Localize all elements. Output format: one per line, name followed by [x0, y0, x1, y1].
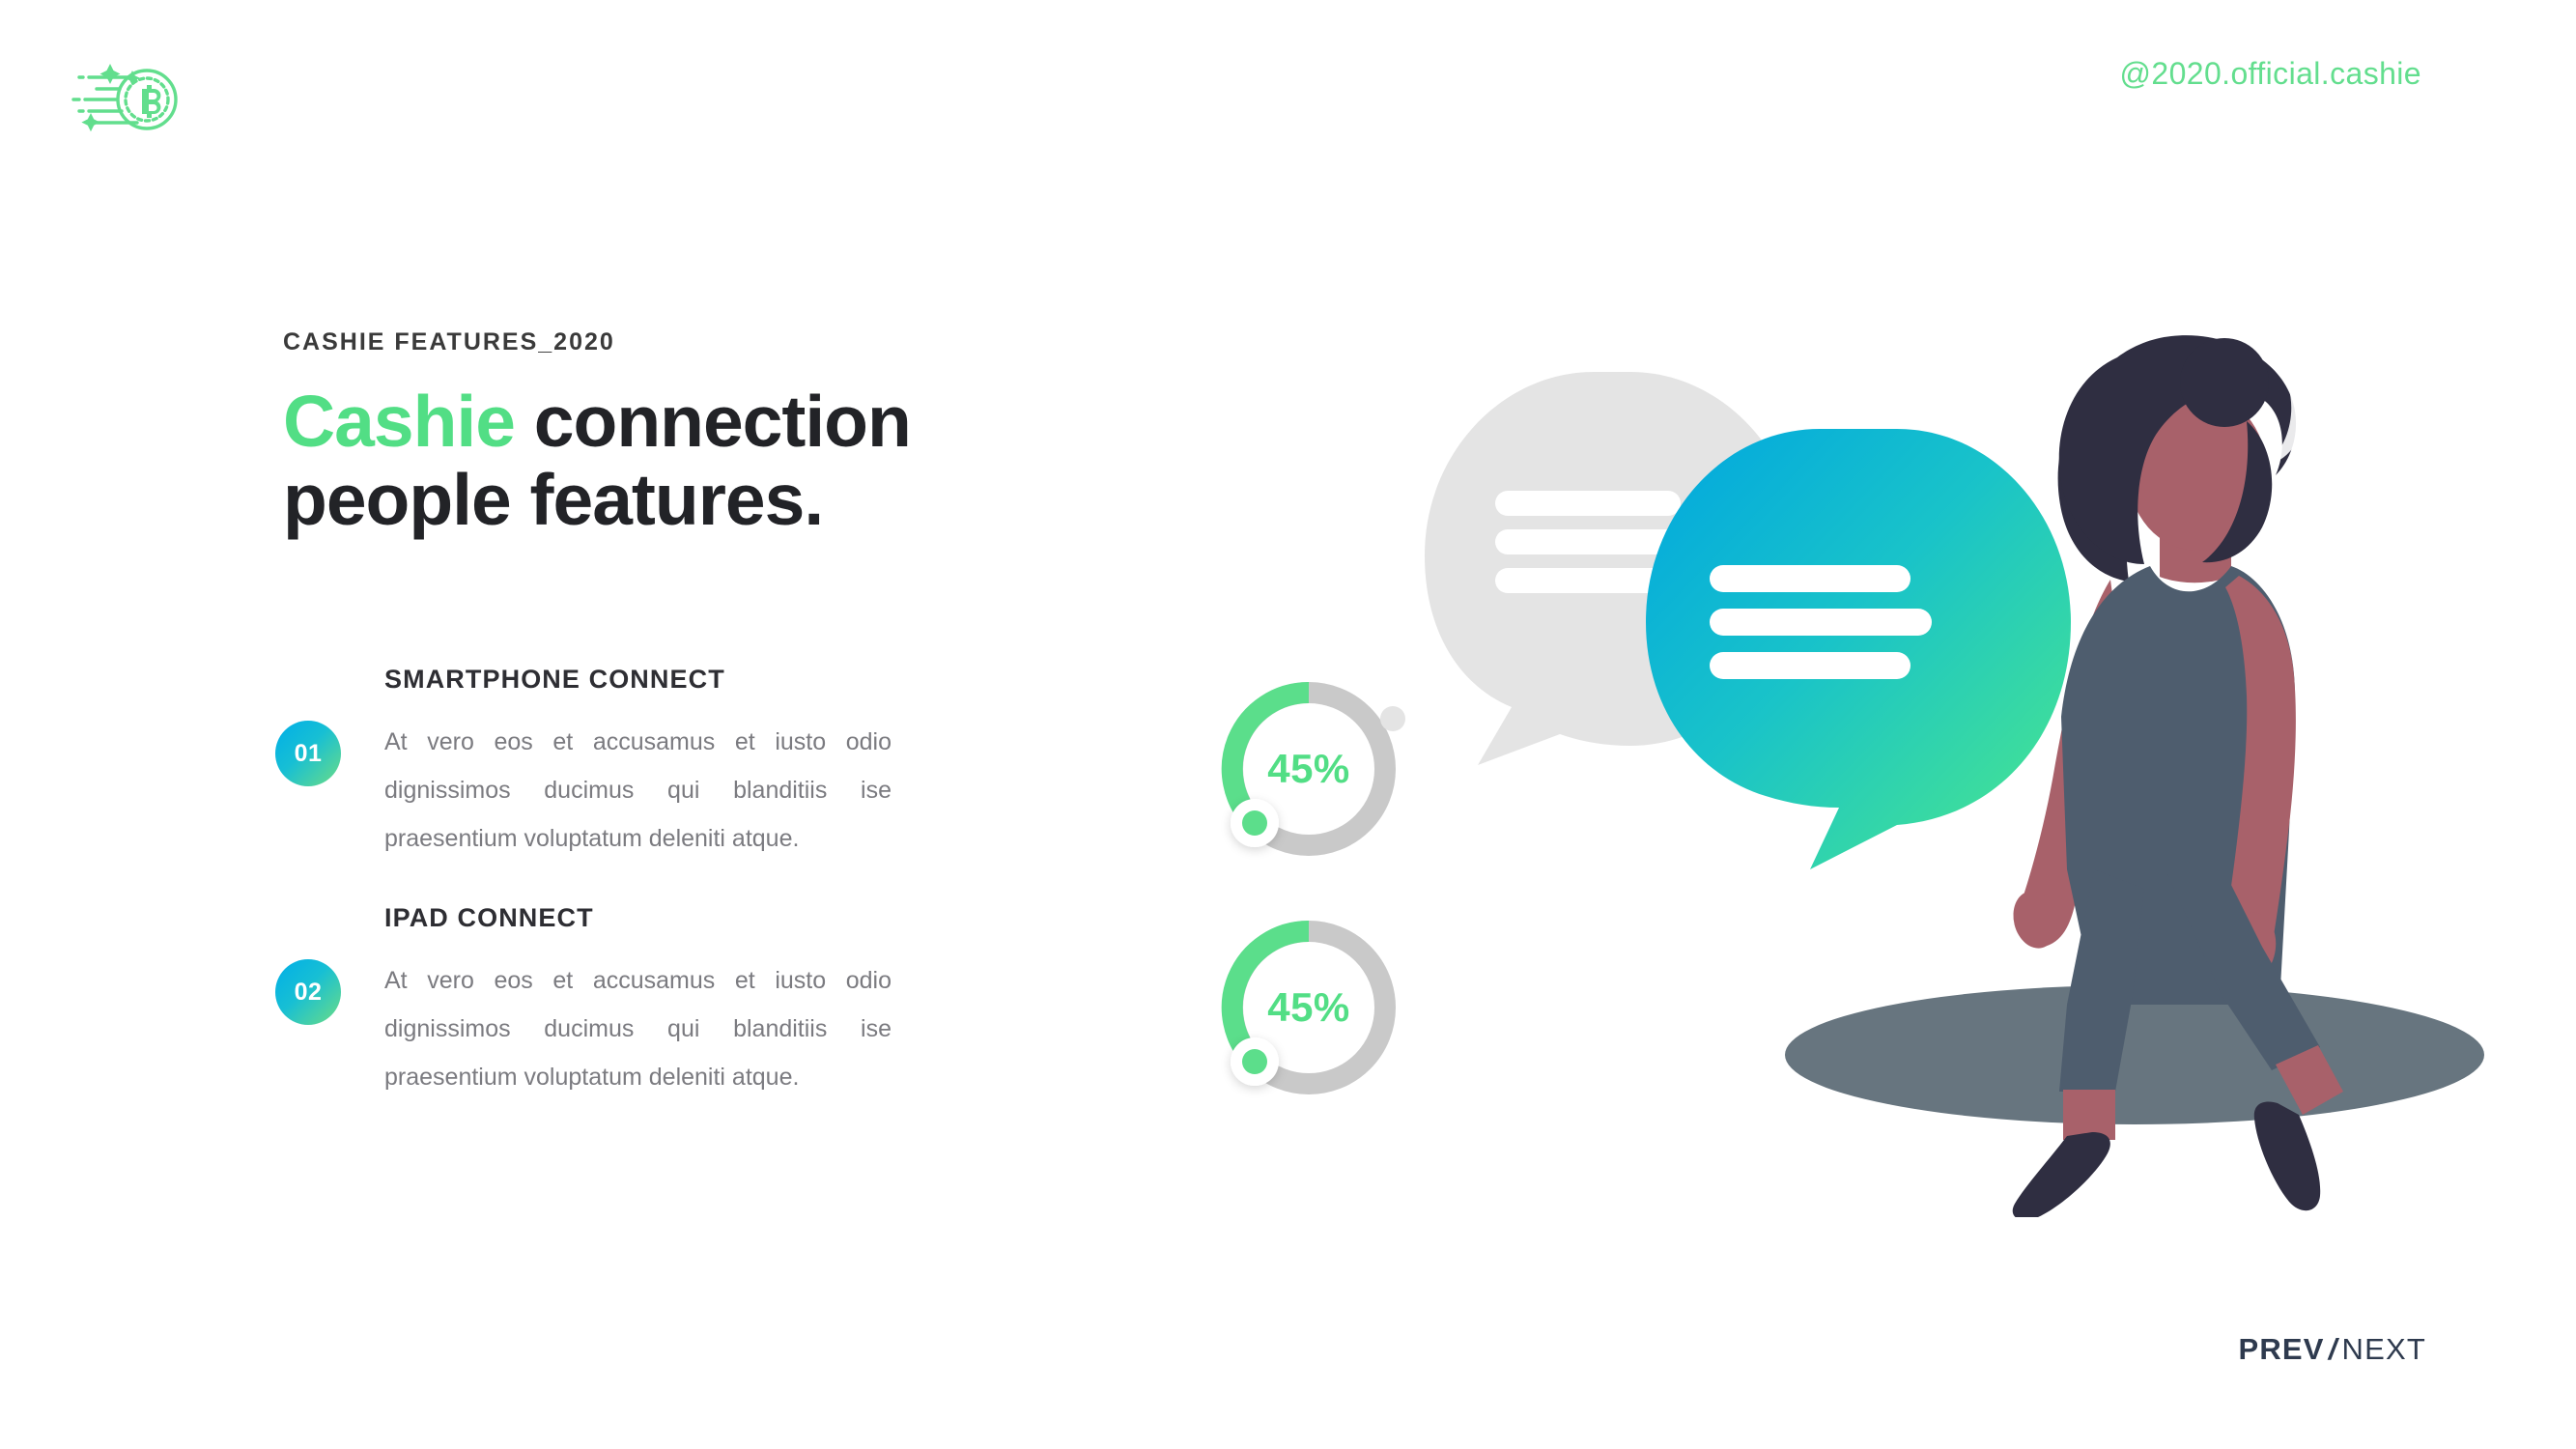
- chat-bubble-gradient: [1646, 429, 2071, 869]
- features-list: 01 SMARTPHONE CONNECT At vero eos et acc…: [270, 665, 1236, 1142]
- eyebrow-label: CASHIE FEATURES_2020: [283, 328, 1152, 356]
- feature-title: SMARTPHONE CONNECT: [384, 665, 892, 695]
- hair-bun: [2180, 338, 2269, 427]
- decor-dot-icon: [1380, 706, 1405, 731]
- illustration-svg: [1333, 328, 2521, 1217]
- headline-accent: Cashie: [283, 381, 515, 462]
- feature-body: IPAD CONNECT At vero eos et accusamus et…: [384, 903, 892, 1101]
- feature-description: At vero eos et accusamus et iusto odio d…: [384, 956, 892, 1101]
- woman-with-chat-bubbles-illustration: [1333, 328, 2521, 1217]
- page-title: Cashie connection people features.: [283, 383, 1152, 539]
- feature-number-badge: 02: [275, 959, 341, 1025]
- slide-navigation: PREV/NEXT: [2238, 1332, 2426, 1367]
- headline-block: CASHIE FEATURES_2020 Cashie connection p…: [283, 328, 1152, 539]
- slide-root: @2020.official.cashie CASHIE FEATURES_20…: [0, 0, 2576, 1449]
- feature-item-01: 01 SMARTPHONE CONNECT At vero eos et acc…: [270, 665, 1236, 863]
- headline-rest: connection: [515, 381, 911, 462]
- brand-logo[interactable]: [56, 43, 220, 158]
- next-button[interactable]: NEXT: [2342, 1332, 2426, 1366]
- nav-separator: /: [2325, 1332, 2342, 1366]
- chat-bubble-gradient-lines: [1710, 565, 1932, 679]
- floor-shadow-ellipse: [1785, 985, 2484, 1124]
- shoe-left: [2013, 1132, 2110, 1217]
- prev-button[interactable]: PREV: [2238, 1332, 2324, 1366]
- shin-left: [2063, 1090, 2115, 1140]
- bitcoin-speed-coin-icon: [56, 43, 220, 158]
- social-handle[interactable]: @2020.official.cashie: [2120, 56, 2421, 92]
- feature-body: SMARTPHONE CONNECT At vero eos et accusa…: [384, 665, 892, 863]
- feature-item-02: 02 IPAD CONNECT At vero eos et accusamus…: [270, 903, 1236, 1101]
- feature-number-badge: 01: [275, 721, 341, 786]
- feature-description: At vero eos et accusamus et iusto odio d…: [384, 718, 892, 863]
- shoe-right: [2254, 1102, 2320, 1211]
- headline-line2: people features.: [283, 459, 823, 540]
- feature-title: IPAD CONNECT: [384, 903, 892, 933]
